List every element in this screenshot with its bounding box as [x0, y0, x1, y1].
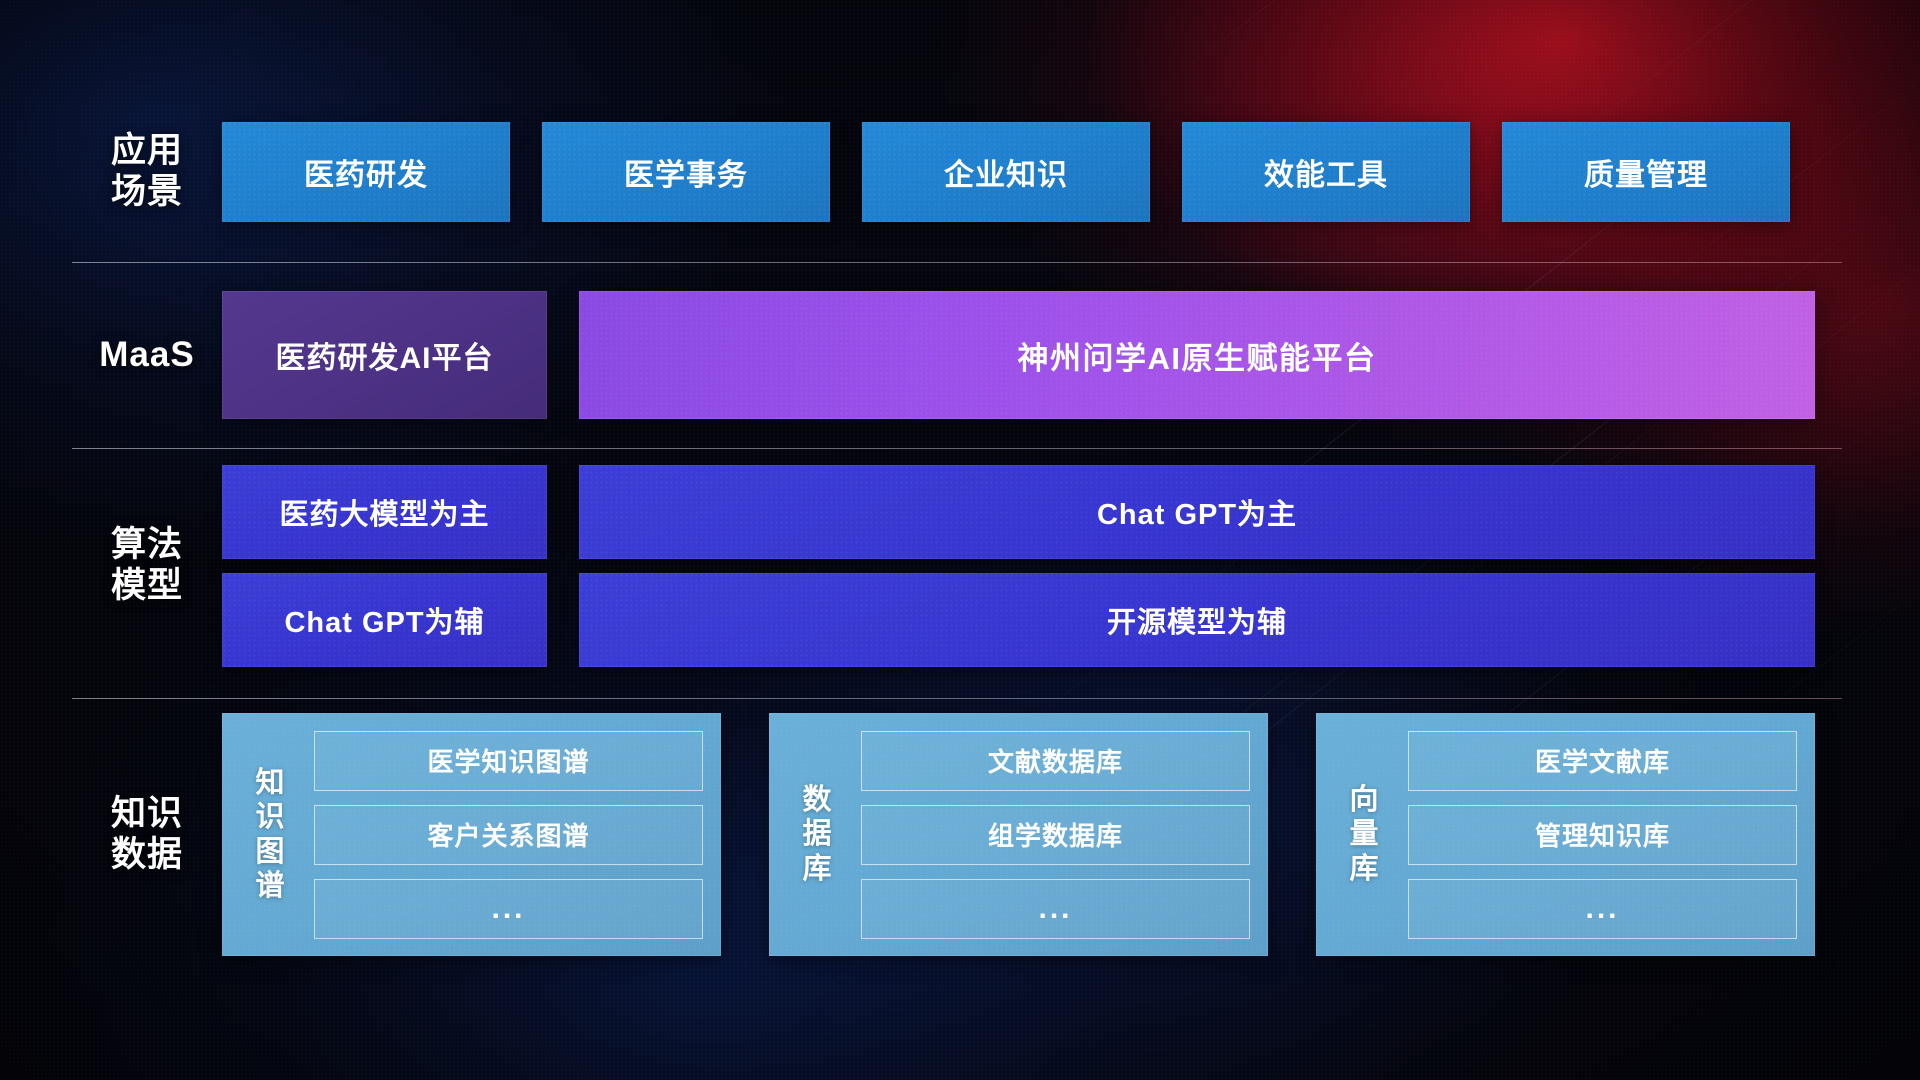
app-box-medical-affairs[interactable]: 医学事务	[542, 122, 830, 222]
knowledge-item-label: ...	[491, 892, 525, 926]
knowledge-panel-title: 向 量 库	[1342, 783, 1386, 886]
app-box-label: 效能工具	[1264, 150, 1388, 194]
knowledge-item-label: ...	[1585, 892, 1619, 926]
algo-box-opensource-secondary[interactable]: 开源模型为辅	[579, 573, 1815, 667]
knowledge-item-more[interactable]: ...	[1408, 879, 1797, 939]
knowledge-item-medical-literature[interactable]: 医学文献库	[1408, 731, 1797, 791]
knowledge-item-label: ...	[1038, 892, 1072, 926]
knowledge-item-literature-db[interactable]: 文献数据库	[861, 731, 1250, 791]
app-box-label: 质量管理	[1584, 150, 1708, 194]
knowledge-panel-database[interactable]: 数 据 库 文献数据库 组学数据库 ...	[769, 713, 1268, 956]
row-label-application-scenarios: 应用 场景	[72, 131, 222, 212]
maas-box-shenzhou-wenxue-platform[interactable]: 神州问学AI原生赋能平台	[579, 291, 1815, 419]
row-knowledge-data: 知识 数据 知 识 图 谱 医学知识图谱 客户关系图谱	[72, 713, 1848, 956]
maas-box-pharma-ai-platform[interactable]: 医药研发AI平台	[222, 291, 547, 419]
algo-box-label: Chat GPT为辅	[284, 599, 484, 641]
divider-after-algorithm	[72, 698, 1842, 699]
application-boxes-container: 医药研发 医学事务 企业知识 效能工具 质量管理	[222, 122, 1848, 222]
app-box-quality-management[interactable]: 质量管理	[1502, 122, 1790, 222]
knowledge-panel-items: 文献数据库 组学数据库 ...	[861, 731, 1250, 939]
knowledge-panel-title: 知 识 图 谱	[248, 766, 292, 903]
divider-after-maas	[72, 448, 1842, 449]
row-maas: MaaS 医药研发AI平台 神州问学AI原生赋能平台	[72, 291, 1848, 419]
maas-box-label: 医药研发AI平台	[276, 333, 494, 377]
algo-box-label: Chat GPT为主	[1097, 491, 1297, 533]
knowledge-item-more[interactable]: ...	[861, 879, 1250, 939]
knowledge-panel-items: 医学文献库 管理知识库 ...	[1408, 731, 1797, 939]
row-label-maas: MaaS	[72, 335, 222, 376]
row-algorithm-models: 算法 模型 医药大模型为主 Chat GPT为主 Chat GPT为辅	[72, 465, 1848, 667]
divider-after-application	[72, 262, 1842, 263]
app-box-label: 医药研发	[304, 150, 428, 194]
algo-box-chatgpt-primary[interactable]: Chat GPT为主	[579, 465, 1815, 559]
algorithm-line-secondary: Chat GPT为辅 开源模型为辅	[222, 573, 1815, 667]
knowledge-item-customer-graph[interactable]: 客户关系图谱	[314, 805, 703, 865]
row-application-scenarios: 应用 场景 医药研发 医学事务 企业知识 效能工具	[72, 108, 1848, 236]
knowledge-panel-title: 数 据 库	[795, 783, 839, 886]
app-box-label: 医学事务	[624, 150, 748, 194]
knowledge-panel-vector-store[interactable]: 向 量 库 医学文献库 管理知识库 ...	[1316, 713, 1815, 956]
knowledge-item-medical-graph[interactable]: 医学知识图谱	[314, 731, 703, 791]
knowledge-panels-container: 知 识 图 谱 医学知识图谱 客户关系图谱 ...	[222, 713, 1848, 956]
knowledge-item-label: 文献数据库	[988, 742, 1123, 779]
maas-main-label: 神州问学AI原生赋能平台	[1018, 333, 1377, 378]
algorithm-line-primary: 医药大模型为主 Chat GPT为主	[222, 465, 1815, 559]
knowledge-panel-knowledge-graph[interactable]: 知 识 图 谱 医学知识图谱 客户关系图谱 ...	[222, 713, 721, 956]
diagram-content: 应用 场景 医药研发 医学事务 企业知识 效能工具	[0, 0, 1920, 1080]
knowledge-item-more[interactable]: ...	[314, 879, 703, 939]
algo-box-chatgpt-secondary[interactable]: Chat GPT为辅	[222, 573, 547, 667]
algo-box-label: 医药大模型为主	[279, 491, 489, 533]
knowledge-item-label: 客户关系图谱	[427, 816, 589, 853]
knowledge-item-management-knowledge[interactable]: 管理知识库	[1408, 805, 1797, 865]
knowledge-item-label: 组学数据库	[988, 816, 1123, 853]
knowledge-item-label: 医学知识图谱	[427, 742, 589, 779]
row-label-algorithm-models: 算法 模型	[72, 525, 222, 606]
app-box-label: 企业知识	[944, 150, 1068, 194]
knowledge-item-omics-db[interactable]: 组学数据库	[861, 805, 1250, 865]
app-box-pharma-rd[interactable]: 医药研发	[222, 122, 510, 222]
algo-box-pharma-llm-primary[interactable]: 医药大模型为主	[222, 465, 547, 559]
algo-box-label: 开源模型为辅	[1107, 599, 1287, 641]
row-label-knowledge-data: 知识 数据	[72, 794, 222, 875]
maas-boxes-container: 医药研发AI平台 神州问学AI原生赋能平台	[222, 291, 1848, 419]
knowledge-panel-items: 医学知识图谱 客户关系图谱 ...	[314, 731, 703, 939]
app-box-efficiency-tools[interactable]: 效能工具	[1182, 122, 1470, 222]
algorithm-boxes-container: 医药大模型为主 Chat GPT为主 Chat GPT为辅 开源模型为辅	[222, 465, 1848, 667]
diagram-canvas: 应用 场景 医药研发 医学事务 企业知识 效能工具	[0, 0, 1920, 1080]
app-box-enterprise-knowledge[interactable]: 企业知识	[862, 122, 1150, 222]
knowledge-item-label: 管理知识库	[1535, 816, 1670, 853]
knowledge-item-label: 医学文献库	[1535, 742, 1670, 779]
